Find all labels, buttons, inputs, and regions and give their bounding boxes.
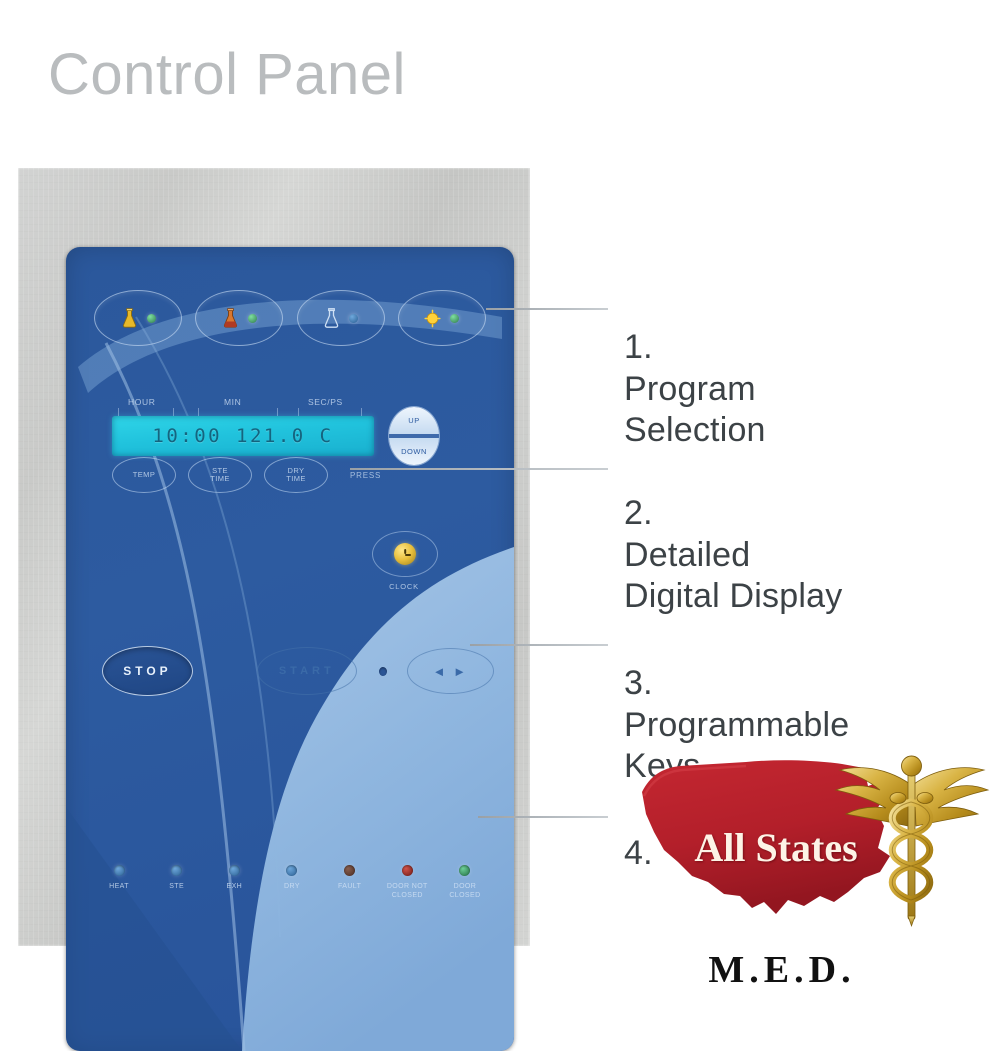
callout-1-text: Program Selection xyxy=(624,370,766,449)
rocker-up-button[interactable]: UP xyxy=(389,407,439,434)
status-led-exh xyxy=(229,865,240,876)
start-button-label: START xyxy=(279,665,335,677)
status-item-door-not-closed: DOOR NOT CLOSED xyxy=(380,865,434,901)
action-indicator-dot xyxy=(379,667,387,676)
status-led-ste xyxy=(171,865,182,876)
leader-line-1 xyxy=(486,308,608,310)
logo-sub-wordmark: M.E.D. xyxy=(642,948,922,992)
display-field-labels: HOUR MIN SEC/PS xyxy=(112,397,390,412)
param-key-dry-line2: TIME xyxy=(286,475,306,483)
status-label-fault: FAULT xyxy=(338,883,361,892)
membrane-panel: HOUR MIN SEC/PS 10:00 121.0 C UP DOWN xyxy=(66,247,514,1051)
status-label-dry: DRY xyxy=(284,883,300,892)
display-label-hour: HOUR xyxy=(128,397,155,407)
program-key-2[interactable] xyxy=(195,290,283,346)
digital-display-group: HOUR MIN SEC/PS 10:00 121.0 C UP DOWN xyxy=(112,397,472,457)
status-item-exh: EXH xyxy=(207,865,261,892)
status-indicator-row: HEAT STE EXH DRY FAULT DOOR NOT CLOSED xyxy=(92,865,492,901)
status-led-heat xyxy=(114,865,125,876)
display-label-min: MIN xyxy=(224,397,241,407)
callout-3-number: 3. xyxy=(624,664,653,702)
leader-line-4 xyxy=(478,816,608,818)
program-key-4[interactable] xyxy=(398,290,486,346)
display-label-sec: SEC/PS xyxy=(308,397,343,407)
param-key-ste-line2: TIME xyxy=(210,475,230,483)
arrow-button-label: ◄ ► xyxy=(433,664,468,679)
callout-2-number: 2. xyxy=(624,494,653,532)
flask-icon xyxy=(323,308,340,329)
status-label-exh: EXH xyxy=(227,883,243,892)
lcd-screen: 10:00 121.0 C xyxy=(112,416,374,456)
stop-button[interactable]: STOP xyxy=(102,646,193,696)
clock-key-group: CLOCK xyxy=(372,531,456,591)
caduceus-icon xyxy=(824,750,1000,928)
status-led-door-not-closed xyxy=(402,865,413,876)
status-label-ste: STE xyxy=(169,883,184,892)
flask-icon xyxy=(121,308,138,329)
callout-2-text: Detailed Digital Display xyxy=(624,536,842,615)
start-button[interactable]: START xyxy=(257,647,357,695)
program-led-2 xyxy=(248,314,257,323)
status-label-heat: HEAT xyxy=(109,883,129,892)
clock-key-label: CLOCK xyxy=(372,582,436,591)
program-selection-row xyxy=(94,287,486,349)
callout-1-number: 1. xyxy=(624,328,653,366)
status-item-heat: HEAT xyxy=(92,865,146,892)
param-key-ste-time[interactable]: STE TIME xyxy=(188,457,252,493)
param-key-temp-line1: TEMP xyxy=(133,471,155,479)
sun-icon xyxy=(424,308,441,329)
action-keys-row: STOP START ◄ ► xyxy=(102,643,494,699)
param-key-dry-time[interactable]: DRY TIME xyxy=(264,457,328,493)
arrow-navigation-button[interactable]: ◄ ► xyxy=(407,648,494,694)
program-led-3 xyxy=(349,314,358,323)
status-led-door-closed xyxy=(459,865,470,876)
device-bezel: HOUR MIN SEC/PS 10:00 121.0 C UP DOWN xyxy=(18,168,530,946)
lcd-row: 10:00 121.0 C UP DOWN xyxy=(112,415,472,457)
status-label-door-not-closed: DOOR NOT CLOSED xyxy=(380,883,434,901)
status-item-fault: FAULT xyxy=(323,865,377,892)
leader-line-3 xyxy=(470,644,608,646)
brand-logo: All States xyxy=(628,752,1000,1000)
lcd-value: 10:00 121.0 C xyxy=(152,425,333,447)
status-label-door-closed: DOOR CLOSED xyxy=(438,883,492,901)
param-key-temp[interactable]: TEMP xyxy=(112,457,176,493)
status-item-door-closed: DOOR CLOSED xyxy=(438,865,492,901)
page-title: Control Panel xyxy=(48,46,406,104)
program-led-1 xyxy=(147,314,156,323)
stop-button-label: STOP xyxy=(123,664,171,678)
callout-2: 2. Detailed Digital Display xyxy=(624,452,842,618)
parameter-keys-row: TEMP STE TIME DRY TIME PRESS xyxy=(112,455,462,495)
program-key-3[interactable] xyxy=(297,290,385,346)
param-aux-label: PRESS xyxy=(350,471,381,480)
flask-icon xyxy=(222,308,239,329)
program-key-1[interactable] xyxy=(94,290,182,346)
program-led-4 xyxy=(450,314,459,323)
leader-line-2 xyxy=(350,468,608,470)
status-led-fault xyxy=(344,865,355,876)
status-item-dry: DRY xyxy=(265,865,319,892)
status-item-ste: STE xyxy=(150,865,204,892)
status-led-dry xyxy=(286,865,297,876)
callout-1: 1. Program Selection xyxy=(624,286,766,452)
clock-key[interactable] xyxy=(372,531,438,577)
clock-icon xyxy=(394,543,416,565)
